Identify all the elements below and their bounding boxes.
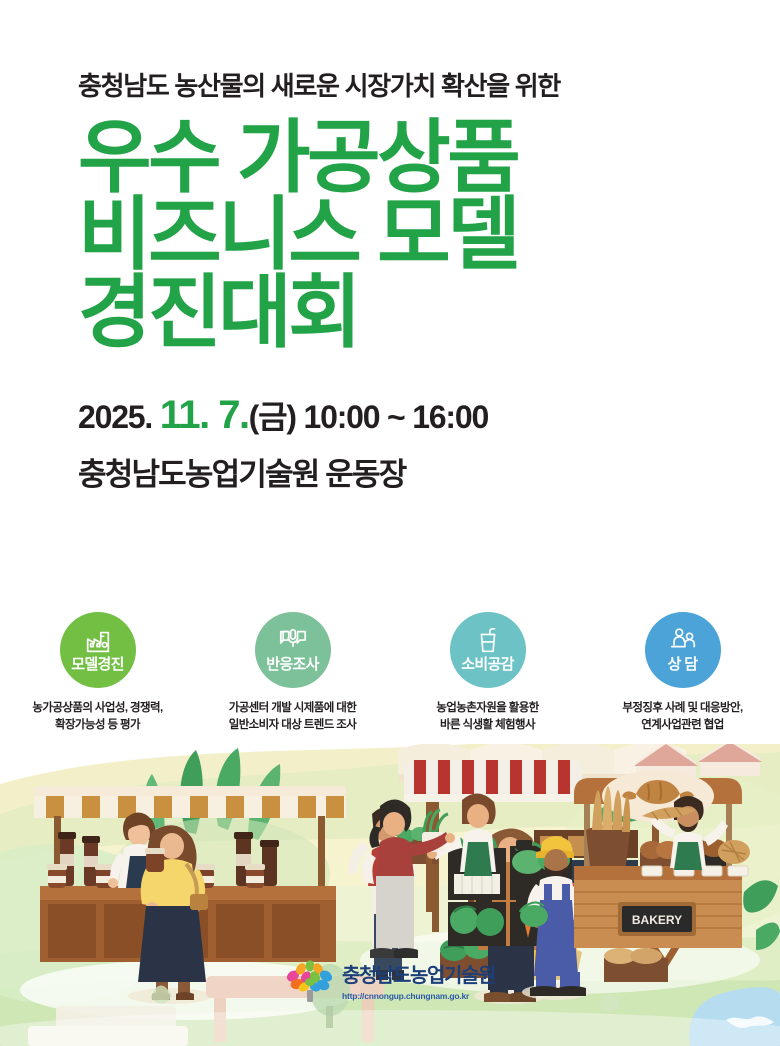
- badge-label-consult: 상 담: [668, 657, 698, 672]
- title-line-1: 우수 가공상품: [78, 119, 780, 197]
- event-poster: BAKERY 충청남도 농산물의 새로운 시장가치 확산을 위한 우수 가공상품…: [0, 0, 780, 1046]
- badge-circle-model: 모델경진: [60, 612, 136, 688]
- badge-item-model: 모델경진 농가공상품의 사업성, 경쟁력, 확장가능성 등 평가: [0, 612, 195, 733]
- badge-desc-consult: 부정징후 사례 및 대응방안, 연계사업관련 협업: [622, 700, 742, 733]
- badge-circle-consult: 상 담: [645, 612, 721, 688]
- title-line-2: 비즈니스 모델: [78, 196, 780, 274]
- title-line-3: 경진대회: [78, 274, 780, 352]
- event-venue: 충청남도농업기술원 운동장: [78, 449, 780, 494]
- drink-glass-icon: [473, 626, 503, 656]
- badge-item-consumer: 소비공감 농업농촌자원을 활용한 바른 식생활 체험행사: [390, 612, 585, 733]
- poster-text-zone: 충청남도 농산물의 새로운 시장가치 확산을 위한 우수 가공상품 비즈니스 모…: [0, 0, 780, 494]
- organization-logo: 충청남도농업기술원 http://cnnongup.chungnam.go.kr: [284, 958, 514, 1008]
- date-prefix: 2025.: [78, 399, 160, 435]
- poster-title: 우수 가공상품 비즈니스 모델 경진대회: [78, 119, 780, 352]
- consultation-people-icon: [668, 626, 698, 656]
- badge-item-consult: 상 담 부정징후 사례 및 대응방안, 연계사업관련 협업: [585, 612, 780, 733]
- badge-desc-survey: 가공센터 개발 시제품에 대한 일반소비자 대상 트렌드 조사: [229, 700, 357, 733]
- badge-desc-consumer: 농업농촌자원을 활용한 바른 식생활 체험행사: [436, 700, 538, 733]
- logo-url[interactable]: http://cnnongup.chungnam.go.kr: [342, 991, 495, 1001]
- date-highlight: 11. 7.: [160, 393, 249, 437]
- date-suffix: (금) 10:00 ~ 16:00: [249, 399, 488, 435]
- badge-desc-model: 농가공상품의 사업성, 경쟁력, 확장가능성 등 평가: [32, 700, 162, 733]
- bakery-sign-text: BAKERY: [632, 913, 682, 927]
- factory-icon: [83, 626, 113, 656]
- survey-microphone-icon: [278, 626, 308, 656]
- badge-label-consumer: 소비공감: [461, 657, 513, 672]
- badge-circle-survey: 반응조사: [255, 612, 331, 688]
- badge-item-survey: 반응조사 가공센터 개발 시제품에 대한 일반소비자 대상 트렌드 조사: [195, 612, 390, 733]
- badge-label-survey: 반응조사: [266, 657, 318, 672]
- poster-subtitle: 충청남도 농산물의 새로운 시장가치 확산을 위한: [78, 70, 780, 103]
- logo-organization-name: 충청남도농업기술원: [342, 965, 495, 987]
- program-badges: 모델경진 농가공상품의 사업성, 경쟁력, 확장가능성 등 평가 반응조사: [0, 612, 780, 733]
- chungnam-tree-logo-icon: [284, 960, 336, 1006]
- badge-circle-consumer: 소비공감: [450, 612, 526, 688]
- badge-label-model: 모델경진: [71, 657, 123, 672]
- event-datetime: 2025. 11. 7.(금) 10:00 ~ 16:00: [78, 393, 780, 437]
